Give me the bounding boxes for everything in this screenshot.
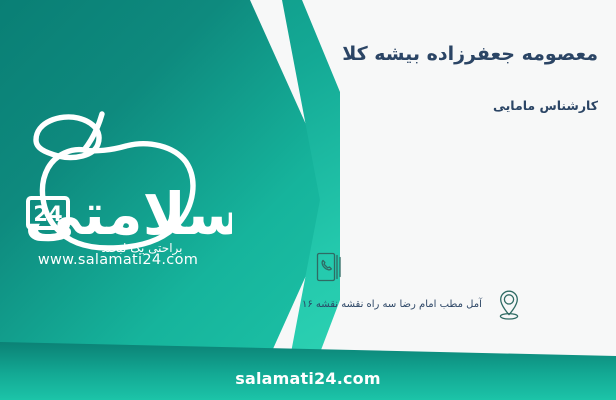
- location-pin-icon: [492, 288, 526, 322]
- brand-logo: سلامتی 24 براحتی یک لبخند www.salamati24…: [16, 104, 232, 272]
- profile-specialty: کارشناس مامایی: [278, 98, 598, 113]
- profile-name: معصومه جعفرزاده بیشه کلا: [278, 42, 598, 68]
- logo-badge-label: 24: [33, 202, 62, 226]
- footer-bar-content: salamati24.com: [0, 342, 616, 400]
- footer-website-url[interactable]: salamati24.com: [235, 369, 381, 388]
- contact-row-address[interactable]: آمل مطب امام رضا سه راه نقشه نقشه ۱۶: [302, 288, 602, 322]
- phone-book-icon: [312, 250, 346, 284]
- logo-badge-24: 24: [28, 198, 68, 228]
- contact-row-phone[interactable]: [302, 250, 602, 284]
- contact-address-value: آمل مطب امام رضا سه راه نقشه نقشه ۱۶: [302, 298, 482, 312]
- business-card: سلامتی 24 براحتی یک لبخند www.salamati24…: [0, 0, 616, 400]
- apple-outline-icon: سلامتی 24 براحتی یک لبخند: [16, 104, 232, 272]
- logo-website-url: www.salamati24.com: [16, 252, 220, 268]
